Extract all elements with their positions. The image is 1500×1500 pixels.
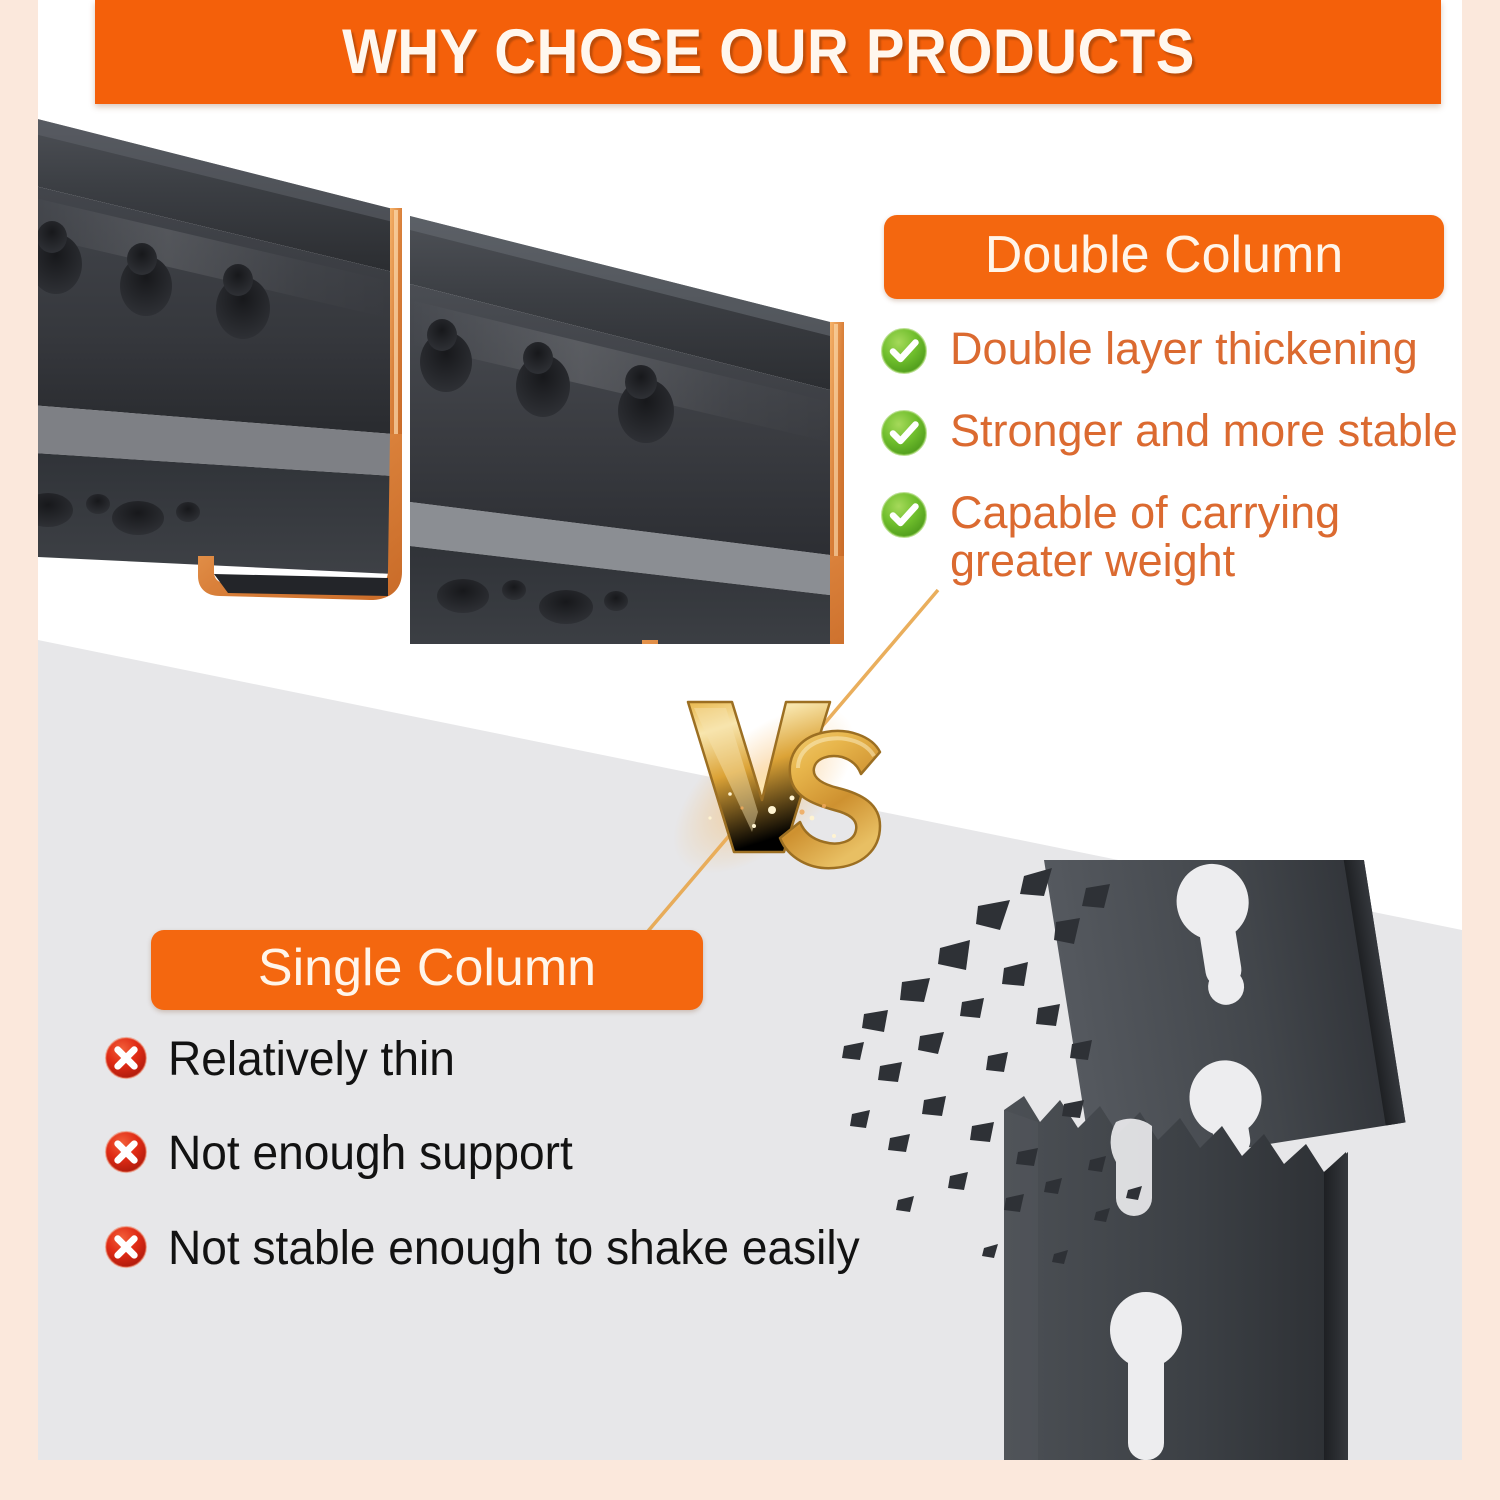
double-column-steel-rails-photo bbox=[38, 104, 868, 644]
list-item: Not stable enough to shake easily bbox=[104, 1224, 964, 1274]
double-column-badge: Double Column bbox=[884, 215, 1444, 299]
vs-emblem bbox=[666, 660, 916, 900]
list-item: Double layer thickening bbox=[880, 325, 1460, 375]
x-circle-icon bbox=[104, 1036, 148, 1080]
infographic-card: WHY CHOSE OUR PRODUCTS Double Column Dou… bbox=[38, 0, 1462, 1460]
single-column-bullet-list: Relatively thin Not enough support Not s… bbox=[104, 1035, 964, 1318]
list-item-label: Relatively thin bbox=[168, 1035, 455, 1085]
single-column-badge-label: Single Column bbox=[258, 942, 596, 998]
double-column-badge-label: Double Column bbox=[985, 229, 1343, 285]
x-circle-icon bbox=[104, 1225, 148, 1269]
list-item-label: Not enough support bbox=[168, 1129, 573, 1179]
list-item-label: Stronger and more stable bbox=[950, 407, 1458, 455]
list-item: Capable of carrying greater weight bbox=[880, 489, 1460, 584]
list-item: Stronger and more stable bbox=[880, 407, 1460, 457]
list-item-label: Capable of carrying greater weight bbox=[950, 489, 1340, 584]
x-circle-icon bbox=[104, 1130, 148, 1174]
check-circle-icon bbox=[880, 409, 928, 457]
check-circle-icon bbox=[880, 327, 928, 375]
list-item: Not enough support bbox=[104, 1129, 964, 1179]
single-column-badge: Single Column bbox=[151, 930, 703, 1010]
check-circle-icon bbox=[880, 491, 928, 539]
double-column-bullet-list: Double layer thickening Stronger and mor… bbox=[880, 325, 1460, 616]
page-title: WHY CHOSE OUR PRODUCTS bbox=[342, 16, 1195, 88]
header-banner: WHY CHOSE OUR PRODUCTS bbox=[95, 0, 1441, 104]
list-item-label: Double layer thickening bbox=[950, 325, 1418, 373]
list-item: Relatively thin bbox=[104, 1035, 964, 1085]
list-item-label: Not stable enough to shake easily bbox=[168, 1224, 860, 1274]
